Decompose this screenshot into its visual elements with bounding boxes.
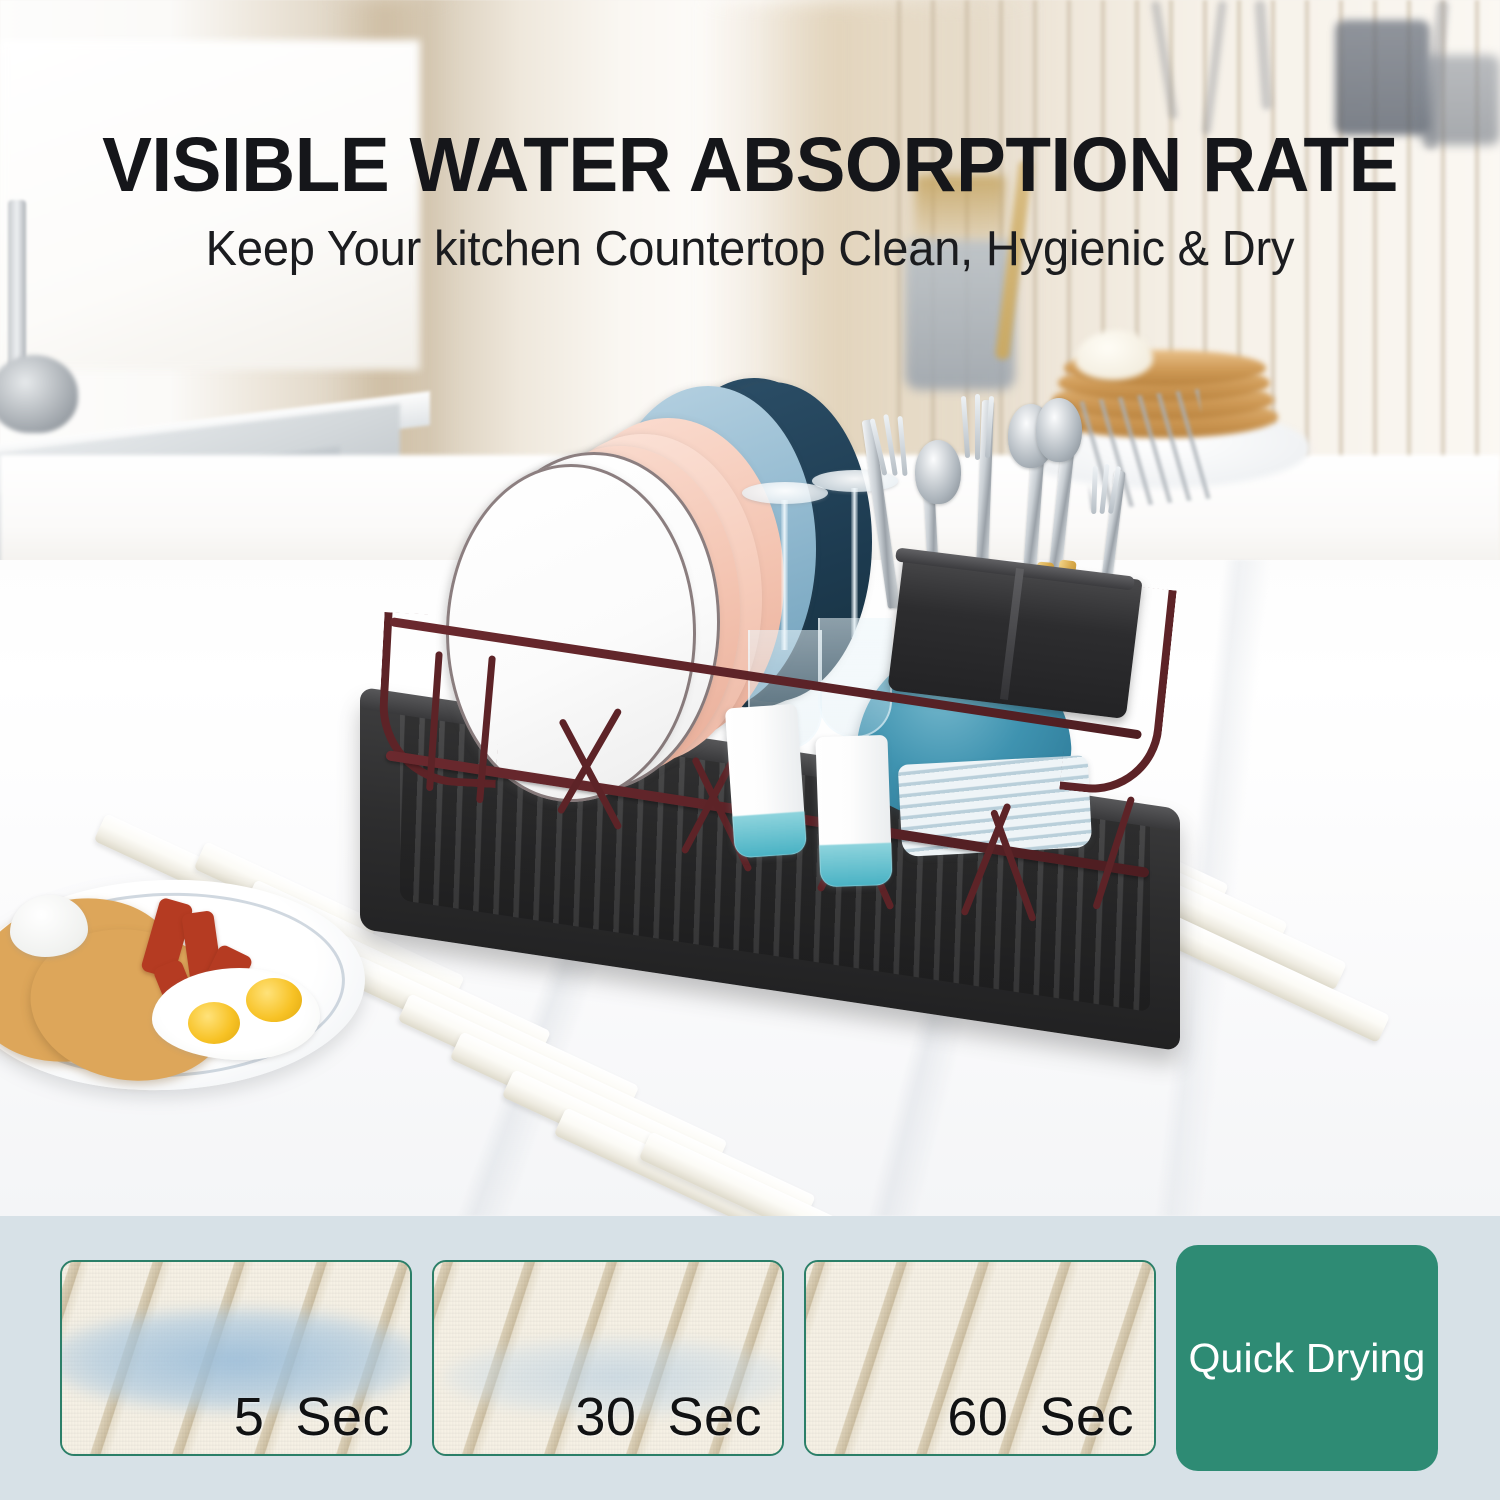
sample-5-sec[interactable]: 5 Sec	[60, 1260, 412, 1456]
rack-right-arc	[1059, 581, 1176, 800]
pancake-fork-icon	[1080, 389, 1211, 511]
shelf-jar	[1335, 20, 1430, 135]
quick-drying-label: Quick Drying	[1188, 1335, 1425, 1382]
sample-list: 5 Sec 30 Sec 60 Sec Quick Drying	[0, 1216, 1500, 1500]
cup-teal-base	[819, 843, 892, 887]
rack-divider	[990, 809, 1037, 922]
page-title: VISIBLE WATER ABSORPTION RATE	[23, 126, 1478, 205]
sample-label: 5 Sec	[234, 1386, 390, 1448]
white-cup	[725, 704, 807, 859]
absorption-comparison-panel: 5 Sec 30 Sec 60 Sec Quick Drying	[0, 1216, 1500, 1500]
sample-label: 60 Sec	[947, 1386, 1134, 1448]
egg-yolk	[246, 978, 302, 1022]
quick-drying-card[interactable]: Quick Drying	[1176, 1245, 1438, 1471]
spoon-head	[1036, 398, 1082, 462]
cup-teal-base	[732, 811, 807, 858]
sample-30-sec[interactable]: 30 Sec	[432, 1260, 784, 1456]
product-infographic: VISIBLE WATER ABSORPTION RATE Keep Your …	[0, 0, 1500, 1500]
rack-divider	[960, 802, 1011, 916]
heading-block: VISIBLE WATER ABSORPTION RATE Keep Your …	[0, 126, 1500, 277]
white-cup	[815, 735, 892, 887]
faucet-base	[0, 355, 78, 433]
sample-label: 30 Sec	[575, 1386, 762, 1448]
rack-divider	[1092, 796, 1135, 910]
page-subtitle: Keep Your kitchen Countertop Clean, Hygi…	[30, 221, 1470, 277]
egg-yolk	[188, 1002, 240, 1044]
hero-kitchen-scene: VISIBLE WATER ABSORPTION RATE Keep Your …	[0, 0, 1500, 1216]
rack-divider	[558, 718, 622, 831]
fork-tine	[975, 394, 980, 460]
whipped-cream	[10, 895, 88, 957]
sample-60-sec[interactable]: 60 Sec	[804, 1260, 1156, 1456]
spoon-head	[915, 440, 961, 504]
